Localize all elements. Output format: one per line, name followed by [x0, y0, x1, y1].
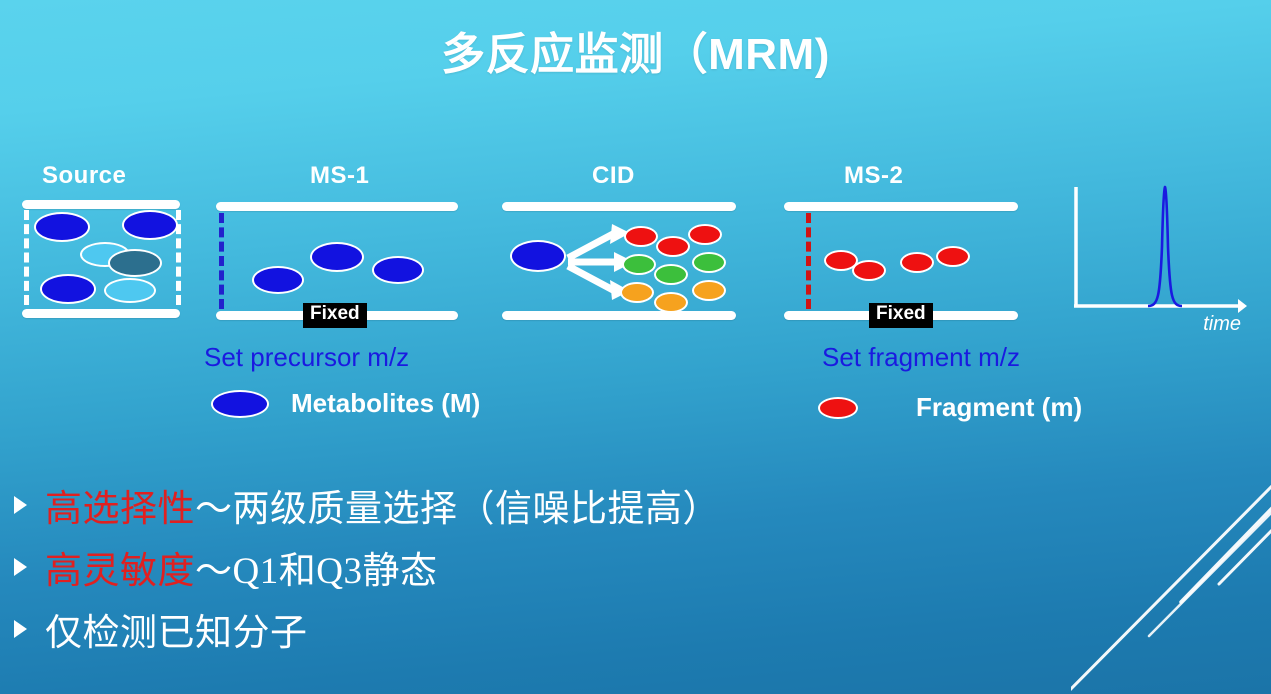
legend-metabolites: Metabolites (M): [211, 388, 480, 419]
set-precursor-label: Set precursor m/z: [204, 342, 409, 373]
ms1-fixed-tag: Fixed: [303, 303, 367, 328]
stage-label-ms1: MS-1: [310, 162, 369, 190]
slide-title: 多反应监测（MRM): [0, 18, 1271, 82]
mrm-diagram: Source MS-1 Fixed CID: [0, 150, 1271, 440]
cid-fragment-particle: [692, 280, 726, 301]
bullet-rest: 〜两级质量选择（信噪比提高）: [195, 488, 720, 529]
ms1-precursor-gate-dashed-line: [219, 213, 224, 309]
stage-label-cid: CID: [592, 162, 635, 190]
bullet-text: 仅检测已知分子: [45, 602, 308, 656]
cid-fragment-particle: [692, 252, 726, 273]
cid-fragment-particle: [654, 264, 688, 285]
stage-label-source: Source: [42, 162, 126, 190]
cid-top-bar: [502, 202, 736, 211]
bullet-rest: 〜Q1和Q3静态: [195, 551, 437, 592]
ms2-fixed-tag: Fixed: [869, 303, 933, 328]
ms2-fragment-gate-dashed-line: [806, 213, 811, 309]
legend-fragment-label: Fragment (m): [916, 392, 1082, 423]
source-left-dashed-border: [24, 210, 29, 305]
ms1-particle: [372, 256, 424, 284]
stage-label-ms2: MS-2: [844, 162, 903, 190]
source-particle: [34, 212, 90, 242]
bullet-rest: 仅检测已知分子: [45, 612, 308, 653]
bullet-triangle-icon: [14, 558, 27, 576]
bullet-highlight: 高灵敏度: [45, 550, 195, 591]
ms1-particle: [310, 242, 364, 272]
ms1-top-bar: [216, 202, 458, 211]
bullet-triangle-icon: [14, 620, 27, 638]
metabolite-swatch-icon: [211, 390, 269, 418]
chromatogram: time: [1072, 185, 1247, 330]
source-particle: [40, 274, 96, 304]
bullet-text: 高灵敏度〜Q1和Q3静态: [45, 540, 437, 594]
fragment-swatch-icon: [818, 397, 858, 419]
cid-fragment-particle: [688, 224, 722, 245]
chromatogram-time-label: time: [1203, 313, 1241, 336]
bullet-item: 高灵敏度〜Q1和Q3静态: [14, 536, 1114, 598]
cid-fragment-particle: [654, 292, 688, 313]
bullet-list: 高选择性〜两级质量选择（信噪比提高） 高灵敏度〜Q1和Q3静态 仅检测已知分子: [14, 474, 1114, 660]
legend-metabolites-label: Metabolites (M): [291, 388, 480, 419]
legend-fragment: Fragment (m): [818, 392, 1082, 423]
source-particle: [108, 249, 162, 277]
cid-fragment-particle: [656, 236, 690, 257]
bullet-item: 高选择性〜两级质量选择（信噪比提高）: [14, 474, 1114, 536]
bullet-triangle-icon: [14, 496, 27, 514]
source-particle: [122, 210, 178, 240]
ms2-particle: [900, 252, 934, 273]
cid-fragment-particle: [624, 226, 658, 247]
cid-bottom-bar: [502, 311, 736, 320]
bullet-item: 仅检测已知分子: [14, 598, 1114, 660]
cid-fragment-particle: [620, 282, 654, 303]
cid-fragment-particle: [622, 254, 656, 275]
ms1-particle: [252, 266, 304, 294]
ms2-particle: [936, 246, 970, 267]
source-bottom-bar: [22, 309, 180, 318]
slide-mrm: 多反应监测（MRM) Source MS-1 Fixed CID: [0, 0, 1271, 694]
bullet-highlight: 高选择性: [45, 488, 195, 529]
bullet-text: 高选择性〜两级质量选择（信噪比提高）: [45, 478, 720, 532]
set-fragment-label: Set fragment m/z: [822, 342, 1020, 373]
source-particle: [104, 278, 156, 303]
ms2-particle: [852, 260, 886, 281]
source-top-bar: [22, 200, 180, 209]
ms2-top-bar: [784, 202, 1018, 211]
cid-precursor-particle: [510, 240, 566, 272]
